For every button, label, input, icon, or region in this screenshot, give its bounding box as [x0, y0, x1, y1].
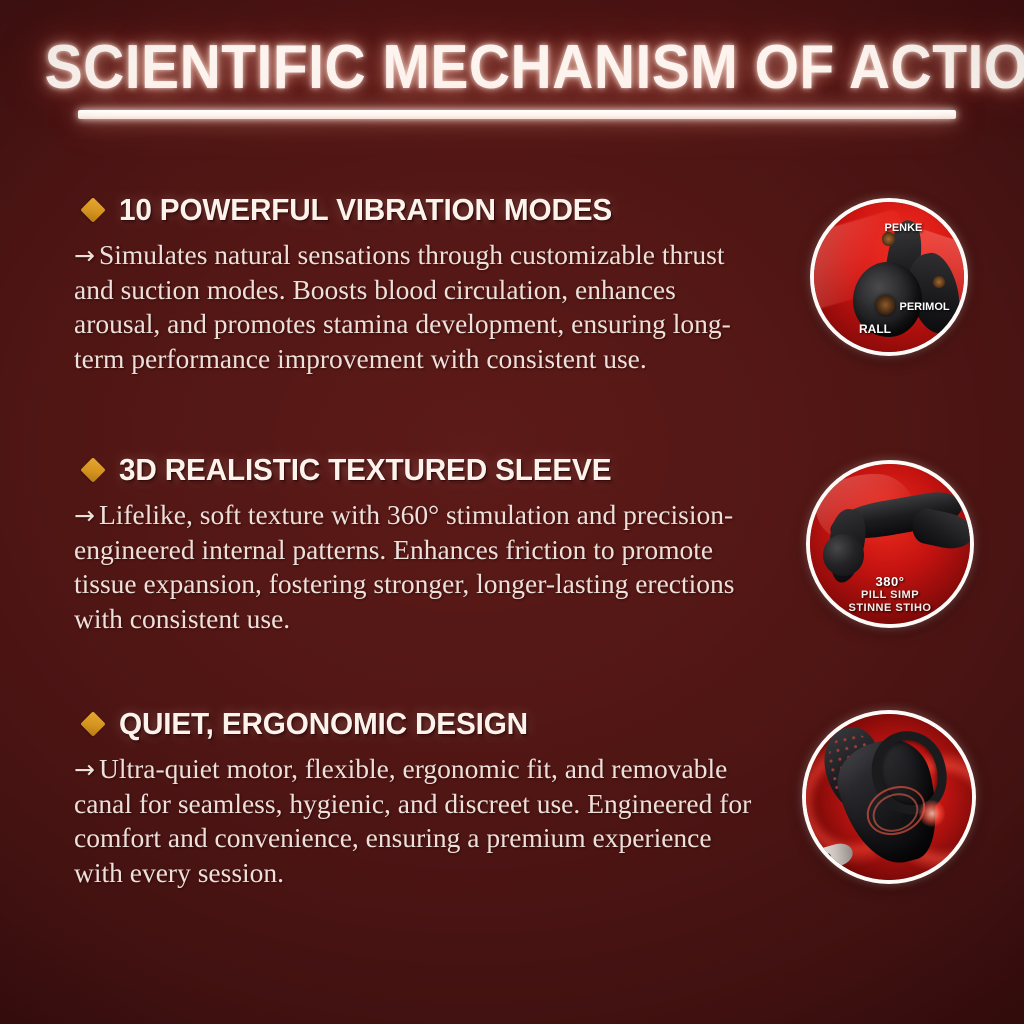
- feature-heading-1: 10 POWERFUL VIBRATION MODES: [119, 192, 612, 228]
- photo-shape-head: [823, 534, 865, 576]
- feature-body-1: →Simulates natural sensations through cu…: [74, 238, 764, 377]
- feature-heading-row-2: 3D REALISTIC TEXTURED SLEEVE: [84, 452, 764, 488]
- feature-body-2: →Lifelike, soft texture with 360° stimul…: [74, 498, 764, 637]
- feature-heading-row-1: 10 POWERFUL VIBRATION MODES: [84, 192, 764, 228]
- feature-heading-2: 3D REALISTIC TEXTURED SLEEVE: [119, 452, 611, 488]
- feature-body-3: →Ultra-quiet motor, flexible, ergonomic …: [74, 752, 764, 891]
- photo-glow-spot: [919, 800, 946, 827]
- feature-section-3: QUIET, ERGONOMIC DESIGN →Ultra-quiet mot…: [74, 706, 764, 891]
- feature-body-text-2: Lifelike, soft texture with 360° stimula…: [74, 499, 734, 634]
- title-underline-rule: [78, 110, 956, 119]
- ergonomic-design-photo: [806, 714, 972, 880]
- arrow-right-icon: →: [74, 241, 99, 270]
- feature-section-1: 10 POWERFUL VIBRATION MODES →Simulates n…: [74, 192, 764, 377]
- photo-shape-hub: [876, 295, 896, 315]
- feature-heading-3: QUIET, ERGONOMIC DESIGN: [119, 706, 528, 742]
- page-title: SCIENTIFIC MECHANISM OF ACTION: [45, 36, 1024, 99]
- diamond-icon: [80, 197, 105, 222]
- feature-body-text-3: Ultra-quiet motor, flexible, ergonomic f…: [74, 753, 751, 888]
- product-image-circle-1: PENKE PERIMOL RALL: [810, 198, 968, 356]
- photo-shape-screw: [882, 232, 896, 246]
- photo-shape-screw-2: [933, 276, 945, 288]
- photo-label-rall: RALL: [859, 322, 891, 336]
- diamond-icon: [80, 711, 105, 736]
- photo-label-penke: PENKE: [885, 222, 923, 234]
- feature-heading-row-3: QUIET, ERGONOMIC DESIGN: [84, 706, 764, 742]
- photo-label-perimol: PERIMOL: [900, 301, 950, 313]
- product-image-circle-3: [802, 710, 976, 884]
- photo-label-degrees: 380°: [810, 574, 970, 589]
- arrow-right-icon: →: [74, 501, 99, 530]
- photo-label-line-3: STINNE STIHO: [810, 602, 970, 615]
- feature-section-2: 3D REALISTIC TEXTURED SLEEVE →Lifelike, …: [74, 452, 764, 637]
- title-block: SCIENTIFIC MECHANISM OF ACTION: [0, 36, 1024, 99]
- product-image-circle-2: 380° PILL SIMP STINNE STIHO: [806, 460, 974, 628]
- photo-label-group: 380° PILL SIMP STINNE STIHO: [810, 574, 970, 614]
- feature-body-text-1: Simulates natural sensations through cus…: [74, 239, 731, 374]
- thrust-mechanism-photo: PENKE PERIMOL RALL: [814, 202, 964, 352]
- photo-label-line-2: PILL SIMP: [810, 589, 970, 602]
- poster-canvas: SCIENTIFIC MECHANISM OF ACTION 10 POWERF…: [0, 0, 1024, 1024]
- photo-cable-connector: [823, 853, 831, 861]
- diamond-icon: [80, 457, 105, 482]
- arrow-right-icon: →: [74, 755, 99, 784]
- textured-sleeve-photo: 380° PILL SIMP STINNE STIHO: [810, 464, 970, 624]
